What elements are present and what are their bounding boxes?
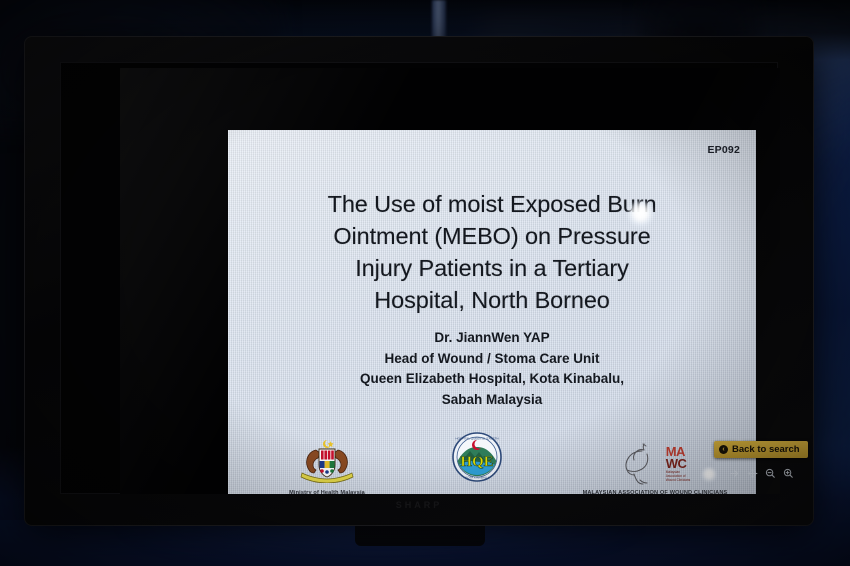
screenshot-stage: SHARP EP092 The Use of moist Exposed Bur… (0, 0, 850, 566)
slide-byline: Dr. JiannWen YAP Head of Wound / Stoma C… (246, 328, 738, 410)
svg-text:HQE: HQE (460, 454, 493, 470)
author-name: Dr. JiannWen YAP (246, 328, 738, 349)
pan-move-icon[interactable] (747, 468, 758, 479)
back-arrow-circle-icon: ‹ (719, 445, 728, 454)
back-to-search-button[interactable]: ‹ Back to search (714, 441, 808, 458)
zoom-out-icon[interactable] (765, 468, 776, 479)
slide-id-code: EP092 (707, 144, 740, 156)
viewer-tool-icons (729, 468, 794, 479)
monitor-inner-bezel: EP092 The Use of moist Exposed Burn Oint… (60, 62, 778, 494)
svg-text:HOSPITAL QUEEN ELIZABETH: HOSPITAL QUEEN ELIZABETH (455, 437, 498, 441)
mawc-monogram-bottom: WC (666, 458, 691, 470)
mawc-monogram: MA WC MalaysianAssociation ofWound Clini… (666, 446, 691, 483)
slide-title-line-1: The Use of moist Exposed Burn (246, 188, 738, 220)
slide-logo-row: Ministry of Health Malaysia (228, 414, 756, 494)
author-location: Sabah Malaysia (246, 390, 738, 411)
logo-ministry-of-health: Ministry of Health Malaysia (252, 437, 402, 494)
svg-text:KOTA KINABALU: KOTA KINABALU (465, 476, 488, 480)
mawc-monogram-subtext: MalaysianAssociation ofWound Clinicians (666, 470, 691, 482)
author-role: Head of Wound / Stoma Care Unit (246, 349, 738, 370)
logo-caption-ministry-of-health: Ministry of Health Malaysia (252, 490, 402, 494)
slide-title-line-3: Injury Patients in a Tertiary (246, 252, 738, 284)
slide-title-line-2: Ointment (MEBO) on Pressure (246, 220, 738, 252)
mawc-dove-icon (620, 439, 664, 490)
back-to-search-label: Back to search (732, 444, 800, 455)
zoom-in-icon[interactable] (783, 468, 794, 479)
hqe-emblem-icon: HQE HOSPITAL QUEEN ELIZABETH KOTA KINABA… (451, 470, 503, 487)
logo-queen-elizabeth-hospital: HQE HOSPITAL QUEEN ELIZABETH KOTA KINABA… (434, 431, 520, 488)
stand-pole (432, 0, 446, 40)
monitor-bezel: SHARP EP092 The Use of moist Exposed Bur… (24, 36, 814, 526)
malaysian-coat-of-arms-icon (294, 470, 360, 487)
slide-title-line-4: Hospital, North Borneo (246, 284, 738, 316)
display-screen: EP092 The Use of moist Exposed Burn Oint… (120, 68, 780, 494)
logo-caption-mawc: MALAYSIAN ASSOCIATION OF WOUND CLINICIAN… (560, 490, 750, 494)
slide-title: The Use of moist Exposed Burn Ointment (… (246, 188, 738, 316)
author-institution: Queen Elizabeth Hospital, Kota Kinabalu, (246, 369, 738, 390)
next-arrow-icon[interactable] (729, 468, 740, 479)
monitor-brand-label: SHARP (24, 500, 814, 510)
presentation-slide[interactable]: EP092 The Use of moist Exposed Burn Oint… (228, 130, 756, 494)
